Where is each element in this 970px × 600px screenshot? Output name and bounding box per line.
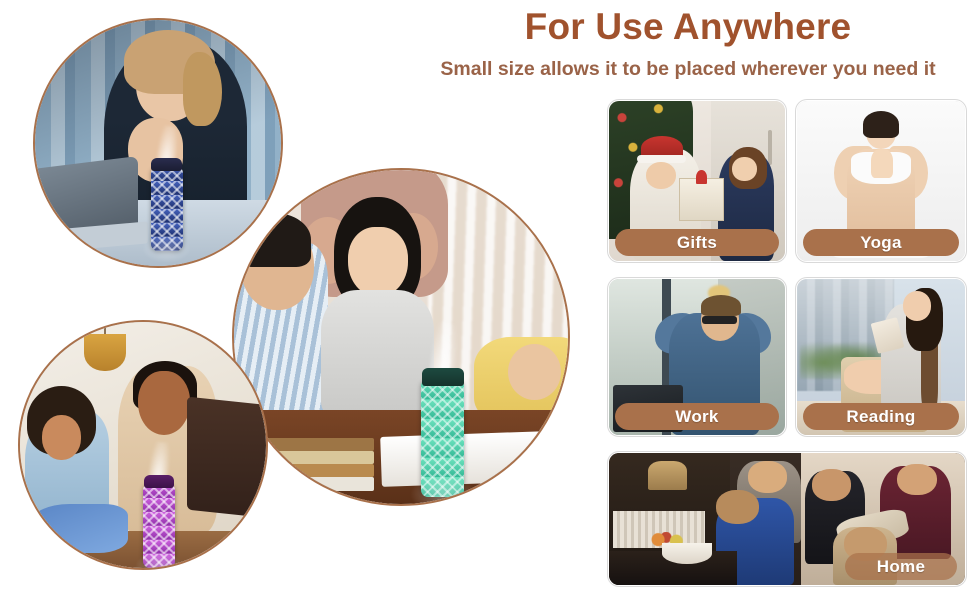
girl-blue-head xyxy=(716,490,759,524)
woman-right-head xyxy=(897,464,936,496)
humidifier-purple xyxy=(143,460,175,568)
humidifier-green xyxy=(421,347,464,497)
hair xyxy=(863,111,900,138)
open-notebook xyxy=(380,431,549,487)
humidifier-cap xyxy=(151,158,182,171)
tile-label-reading: Reading xyxy=(803,403,959,430)
scene-tile-gifts[interactable]: Gifts xyxy=(608,100,786,262)
boy-head xyxy=(812,469,851,501)
headline-block: For Use Anywhere Small size allows it to… xyxy=(410,6,966,81)
humidifier-blue xyxy=(151,143,183,251)
gift-box xyxy=(679,178,723,222)
scene-tile-yoga[interactable]: Yoga xyxy=(796,100,966,262)
tile-label-yoga: Yoga xyxy=(803,229,959,256)
woman-head xyxy=(903,291,932,321)
prayer-hands xyxy=(871,149,893,178)
page-subtitle: Small size allows it to be placed wherev… xyxy=(410,58,966,81)
product-marketing-banner: For Use Anywhere Small size allows it to… xyxy=(0,0,970,600)
girl-face xyxy=(732,157,757,181)
photo-family-studying xyxy=(234,170,568,504)
photo-mother-and-child xyxy=(20,322,266,568)
circle-photo-family-studying xyxy=(232,168,570,506)
page-title: For Use Anywhere xyxy=(410,6,966,49)
man-back-head xyxy=(748,461,787,493)
man-hair xyxy=(701,295,741,317)
child-face xyxy=(42,415,81,459)
humidifier-glow xyxy=(142,235,191,263)
circle-photo-woman-at-laptop xyxy=(33,18,283,268)
glasses xyxy=(702,316,737,324)
scene-tile-home[interactable]: Home xyxy=(608,452,966,586)
tile-label-home: Home xyxy=(845,553,957,580)
book xyxy=(261,477,375,490)
humidifier-cap xyxy=(144,475,175,488)
book xyxy=(261,438,375,451)
laptop xyxy=(187,396,266,518)
girl-face xyxy=(348,227,408,297)
table-lamp xyxy=(648,461,687,490)
book xyxy=(261,451,375,464)
photo-woman-at-laptop xyxy=(35,20,281,266)
tile-label-work: Work xyxy=(615,403,779,430)
circle-photo-mother-and-child xyxy=(18,320,268,570)
snack-bowl xyxy=(662,543,712,564)
pendant-lamp xyxy=(84,334,126,371)
scene-tile-work[interactable]: Work xyxy=(608,278,786,436)
scene-tile-reading[interactable]: Reading xyxy=(796,278,966,436)
book xyxy=(261,464,375,477)
blue-cloth xyxy=(30,504,128,553)
book-stack xyxy=(261,431,375,491)
humidifier-cap xyxy=(422,368,464,386)
girl-body xyxy=(321,290,435,417)
tile-label-gifts: Gifts xyxy=(615,229,779,256)
woman-face xyxy=(646,162,676,189)
mother-face xyxy=(138,371,190,435)
